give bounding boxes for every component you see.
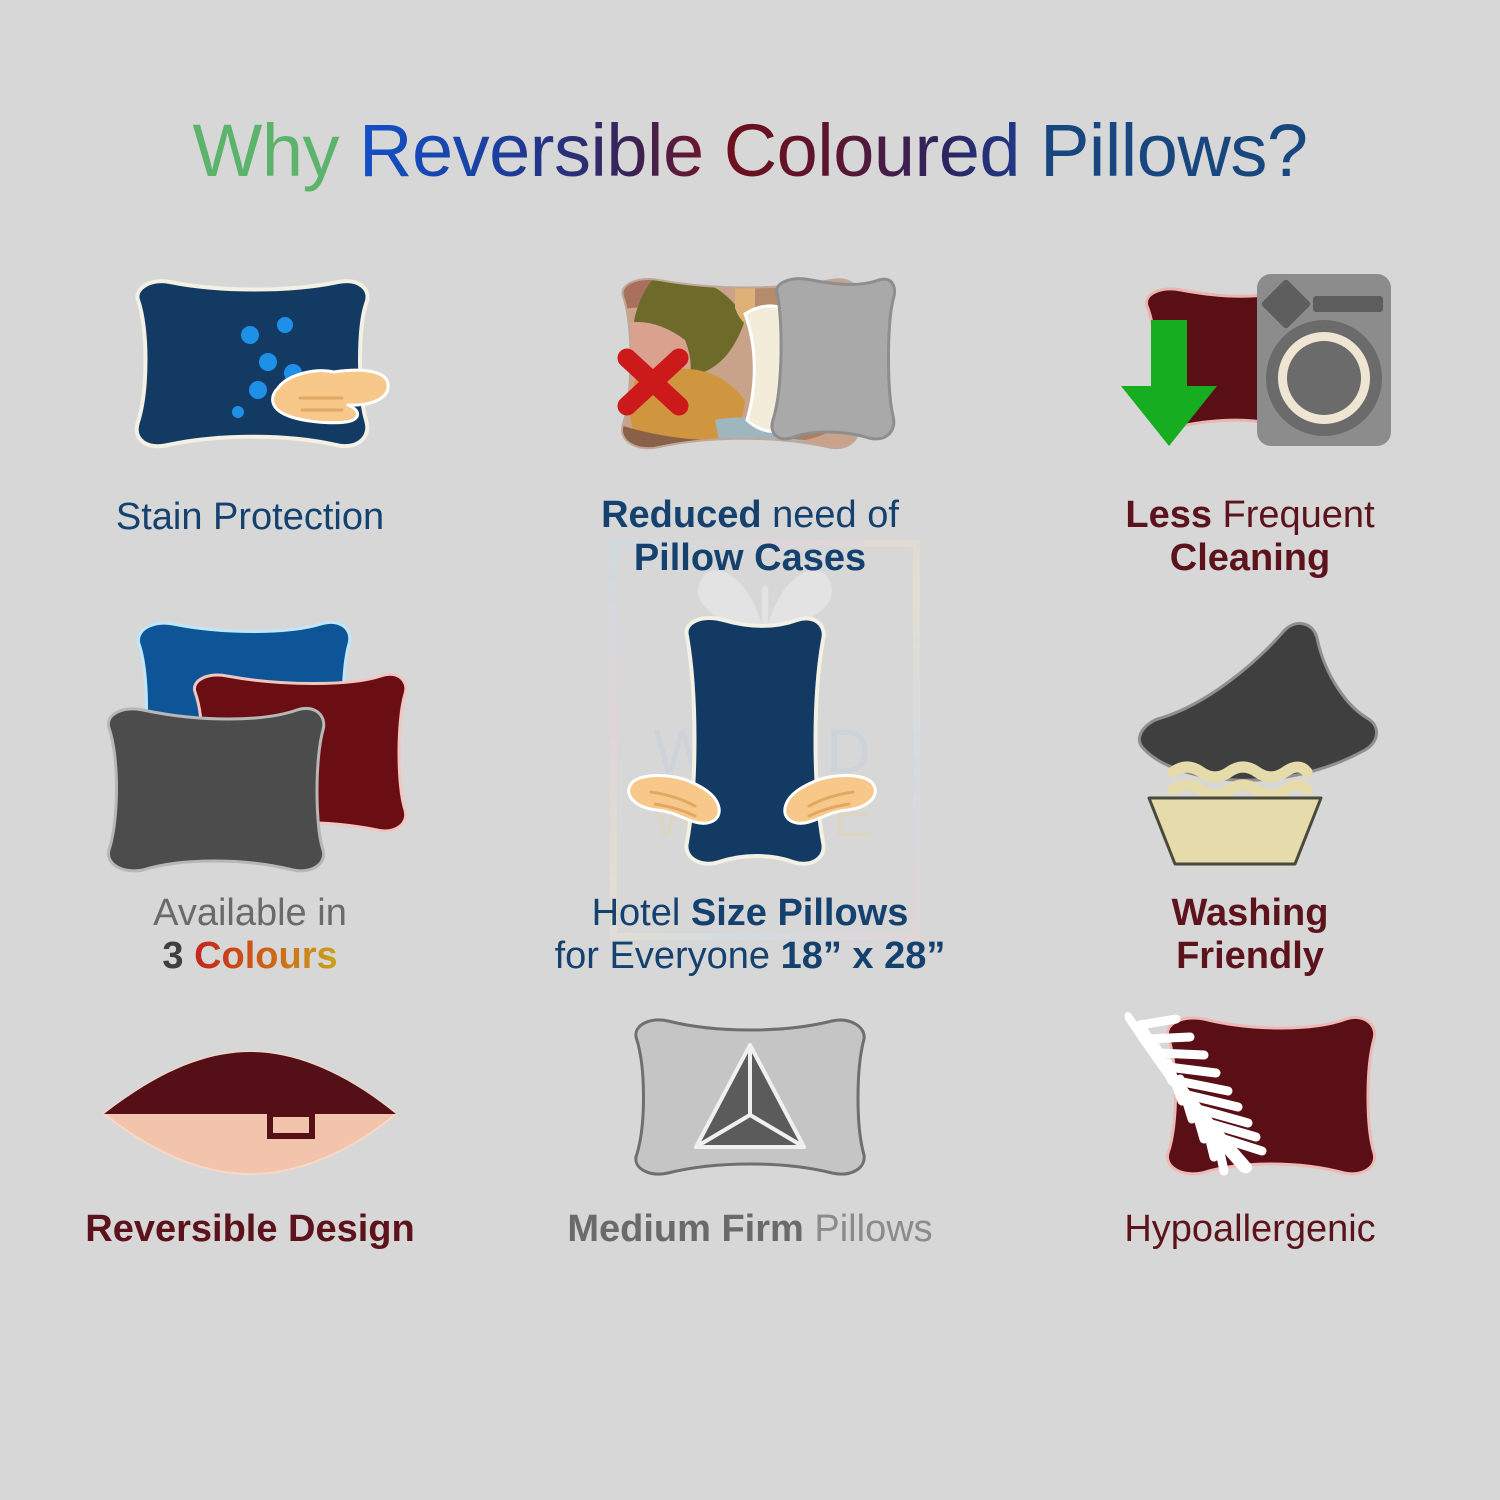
infographic-page: THE WOOD WHITE Why Reversible Coloured P…: [0, 0, 1500, 1500]
caption-word-need-of: need of: [772, 494, 899, 536]
feature-less-frequent-cleaning: Less Frequent Cleaning: [1000, 260, 1500, 600]
title-word-coloured: Coloured: [724, 109, 1040, 192]
feature-grid: Stain Protection: [0, 260, 1500, 1330]
caption-reduced-pillow-cases: Reduced need of Pillow Cases: [601, 494, 899, 581]
caption-word-available-in: Available in: [153, 892, 347, 934]
caption-word-reduced: Reduced: [601, 494, 772, 536]
caption-word-reversible-design: Reversible Design: [85, 1208, 414, 1250]
caption-reversible-design: Reversible Design: [85, 1208, 414, 1251]
caption-word-size-pillows: Size Pillows: [691, 892, 909, 934]
caption-medium-firm-pillows: Medium Firm Pillows: [567, 1208, 932, 1251]
caption-word-frequent: Frequent: [1223, 494, 1375, 536]
caption-word-hypoallergenic: Hypoallergenic: [1124, 1208, 1375, 1250]
caption-less-frequent-cleaning: Less Frequent Cleaning: [1125, 494, 1374, 581]
caption-word-3: 3: [162, 935, 194, 977]
caption-hypoallergenic: Hypoallergenic: [1124, 1208, 1375, 1251]
title-word-reversible: Reversible: [359, 109, 724, 192]
title-word-why: Why: [192, 109, 359, 192]
caption-word-colours: Colours: [194, 935, 338, 977]
caption-hotel-size-pillows: Hotel Size Pillows for Everyone 18” x 28…: [555, 892, 946, 979]
caption-available-in-3-colours: Available in 3 Colours: [153, 892, 347, 979]
caption-word-cleaning: Cleaning: [1170, 537, 1330, 579]
feature-hotel-size-pillows: Hotel Size Pillows for Everyone 18” x 28…: [500, 600, 1000, 1000]
feature-reversible-design: Reversible Design: [0, 1000, 500, 1330]
pillow-with-droplets-and-hand-icon: [110, 260, 390, 460]
caption-word-hotel: Hotel: [592, 892, 691, 934]
three-stacked-pillows-icon: [85, 600, 415, 870]
two-tone-side-view-pillow-icon: [100, 1000, 400, 1180]
caption-line-text: Stain Protection: [116, 496, 384, 538]
title-word-pillows: Pillows?: [1040, 109, 1307, 192]
feature-reduced-pillow-cases: Reduced need of Pillow Cases: [500, 260, 1000, 600]
feature-stain-protection: Stain Protection: [0, 260, 500, 600]
hands-holding-navy-pillow-icon: [625, 600, 875, 870]
feature-hypoallergenic: Hypoallergenic: [1000, 1000, 1500, 1330]
caption-word-less: Less: [1125, 494, 1222, 536]
washing-machine-with-pillow-icon: [1105, 260, 1395, 460]
caption-word-friendly: Friendly: [1176, 935, 1324, 977]
caption-word-pillow-cases: Pillow Cases: [634, 537, 866, 579]
feature-washing-friendly: Washing Friendly: [1000, 600, 1500, 1000]
caption-word-pillows: Pillows: [814, 1208, 932, 1250]
caption-word-washing: Washing: [1172, 892, 1329, 934]
caption-word-dimensions: 18” x 28”: [781, 935, 946, 977]
page-title: Why Reversible Coloured Pillows?: [0, 108, 1500, 193]
feather-on-red-pillow-icon: [1110, 1000, 1390, 1180]
caption-word-medium-firm: Medium Firm: [567, 1208, 814, 1250]
caption-washing-friendly: Washing Friendly: [1172, 892, 1329, 979]
patterned-pillowcase-with-red-x-icon: [605, 260, 895, 460]
feature-medium-firm-pillows: Medium Firm Pillows: [500, 1000, 1000, 1330]
feature-available-in-3-colours: Available in 3 Colours: [0, 600, 500, 1000]
pillow-in-wash-basin-icon: [1115, 600, 1385, 870]
caption-stain-protection: Stain Protection: [116, 496, 384, 539]
caption-word-for-everyone: for Everyone: [555, 935, 781, 977]
grey-pillow-with-pyramid-icon: [620, 1000, 880, 1180]
